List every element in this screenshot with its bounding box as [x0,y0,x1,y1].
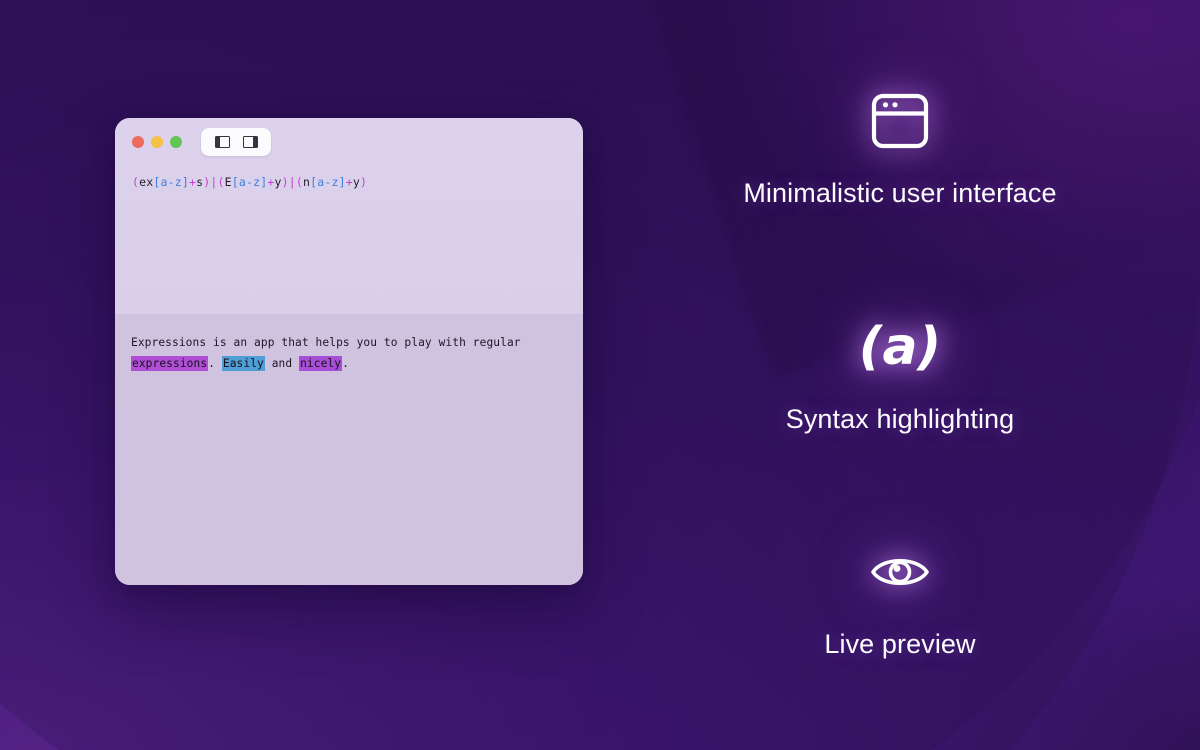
regex-token: + [346,175,353,189]
preview-segment: . [342,357,349,370]
sidebar-left-icon [215,136,230,148]
regex-token: y [275,175,282,189]
preview-text[interactable]: Expressions is an app that helps you to … [115,332,583,374]
sidebar-right-icon [243,136,258,148]
regex-token: [a-z] [153,175,189,189]
pane-toggle-group[interactable] [201,128,271,156]
parenthesis-a-icon: (a) [859,316,942,378]
zoom-button[interactable] [170,136,182,148]
preview-match-highlight: expressions [131,356,208,371]
preview-match-highlight: Easily [222,356,265,371]
regex-token: | [210,175,217,189]
regex-token: [a-z] [310,175,346,189]
parenthesis-a-glyph: (a) [859,321,942,373]
regex-token: [a-z] [232,175,268,189]
regex-token: E [225,175,232,189]
preview-text-wrapper: Expressions is an app that helps you to … [115,314,583,585]
regex-input-line[interactable]: (ex[a-z]+s)|(E[a-z]+y)|(n[a-z]+y) [115,175,583,189]
minimize-button[interactable] [151,136,163,148]
preview-match-highlight: nicely [299,356,342,371]
toggle-left-pane-button[interactable] [208,131,236,153]
regex-token: ) [360,175,367,189]
regex-token: + [267,175,274,189]
regex-token: ex [139,175,153,189]
feature-live-preview: Live preview [824,541,975,660]
regex-token: ( [296,175,303,189]
traffic-lights [132,136,182,148]
regex-token: ) [282,175,289,189]
feature-label: Syntax highlighting [786,404,1015,435]
regex-token: y [353,175,360,189]
feature-label: Minimalistic user interface [743,178,1056,209]
feature-syntax-highlighting: (a) Syntax highlighting [786,316,1015,435]
preview-segment: and [265,357,299,370]
close-button[interactable] [132,136,144,148]
window-icon [871,90,929,152]
regex-token: | [289,175,296,189]
app-window[interactable]: (ex[a-z]+s)|(E[a-z]+y)|(n[a-z]+y) Expres… [115,118,583,585]
feature-label: Live preview [824,629,975,660]
preview-segment: . [208,357,222,370]
eye-icon [869,541,931,603]
window-titlebar[interactable] [115,118,583,166]
preview-segment: Expressions is an app that helps you to … [131,336,521,349]
feature-minimalistic-ui: Minimalistic user interface [743,90,1056,209]
feature-list: Minimalistic user interface (a) Syntax h… [620,90,1180,660]
toggle-right-pane-button[interactable] [236,131,264,153]
regex-token: ( [218,175,225,189]
